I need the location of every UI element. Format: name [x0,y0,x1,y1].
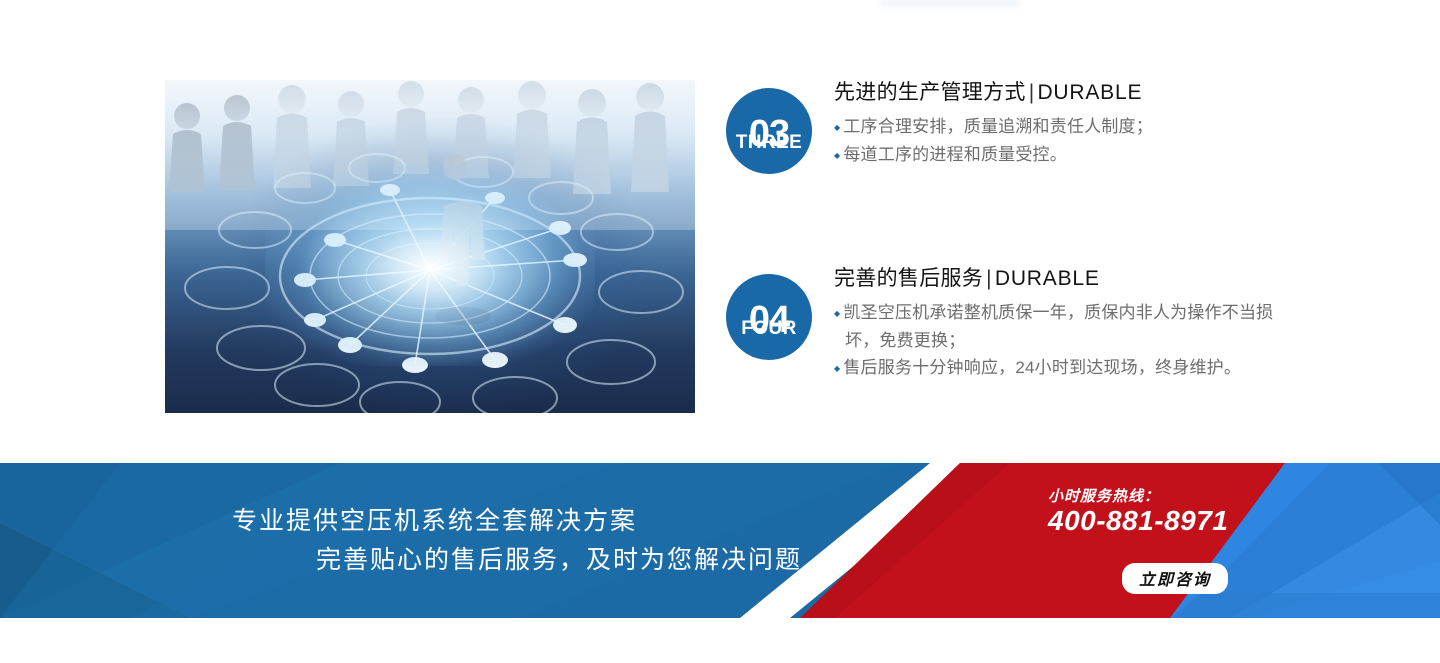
feature-title-en: DURABLE [1037,81,1142,104]
banner-slogan-1: 专业提供空压机系统全套解决方案 [232,502,1000,541]
feature-title-cn: 先进的生产管理方式 [834,81,1026,104]
bullet-item: 售后服务十分钟响应，24小时到达现场，终身维护。 [834,354,1276,382]
feature-badge-03: 03 THREE [726,88,812,174]
feature-badge-04: 04 FOUR [726,274,812,360]
feature-bullets-04: 凯圣空压机承诺整机质保一年，质保内非人为操作不当损坏，免费更换； 售后服务十分钟… [834,299,1276,382]
advantages-content: 03 THREE 先进的生产管理方式|DURABLE 工序合理安排，质量追溯和责… [0,0,1440,463]
banner-slogan-2: 完善贴心的售后服务，及时为您解决问题 [316,541,1000,580]
feature-item-04: 04 FOUR 完善的售后服务|DURABLE 凯圣空压机承诺整机质保一年，质保… [726,266,1286,386]
hotline-label: 小时服务热线： [1048,489,1228,504]
banner-slogans: 专业提供空压机系统全套解决方案 完善贴心的售后服务，及时为您解决问题 [0,463,1000,618]
feature-title-03: 先进的生产管理方式|DURABLE [834,80,1276,105]
feature-body-03: 先进的生产管理方式|DURABLE 工序合理安排，质量追溯和责任人制度； 每道工… [834,80,1286,168]
network-concept-image [165,80,695,413]
title-separator: | [1026,81,1038,104]
feature-number-word: FOUR [741,319,796,338]
hotline-block: 2 4 小时服务热线： 400-881-8971 立即咨询 [1000,489,1250,599]
feature-list: 03 THREE 先进的生产管理方式|DURABLE 工序合理安排，质量追溯和责… [726,80,1286,386]
consult-now-button[interactable]: 立即咨询 [1122,563,1228,594]
feature-body-04: 完善的售后服务|DURABLE 凯圣空压机承诺整机质保一年，质保内非人为操作不当… [834,266,1286,382]
hotline-text: 小时服务热线： 400-881-8971 [1048,489,1228,535]
hotline-phone-number[interactable]: 400-881-8971 [1048,507,1228,535]
feature-title-en: DURABLE [995,267,1100,290]
bullet-item: 工序合理安排，质量追溯和责任人制度； [834,113,1276,141]
title-separator: | [983,267,995,290]
bottom-cta-banner: 专业提供空压机系统全套解决方案 完善贴心的售后服务，及时为您解决问题 2 4 小… [0,463,1440,618]
feature-title-04: 完善的售后服务|DURABLE [834,266,1276,291]
hotline-row: 2 4 小时服务热线： 400-881-8971 [1000,489,1250,557]
bullet-item: 凯圣空压机承诺整机质保一年，质保内非人为操作不当损坏，免费更换； [834,299,1276,354]
network-nodes-graphic [165,80,695,413]
feature-bullets-03: 工序合理安排，质量追溯和责任人制度； 每道工序的进程和质量受控。 [834,113,1276,168]
bullet-item: 每道工序的进程和质量受控。 [834,141,1276,169]
feature-number-word: THREE [736,133,802,152]
feature-item-03: 03 THREE 先进的生产管理方式|DURABLE 工序合理安排，质量追溯和责… [726,80,1286,200]
feature-title-cn: 完善的售后服务 [834,267,983,290]
